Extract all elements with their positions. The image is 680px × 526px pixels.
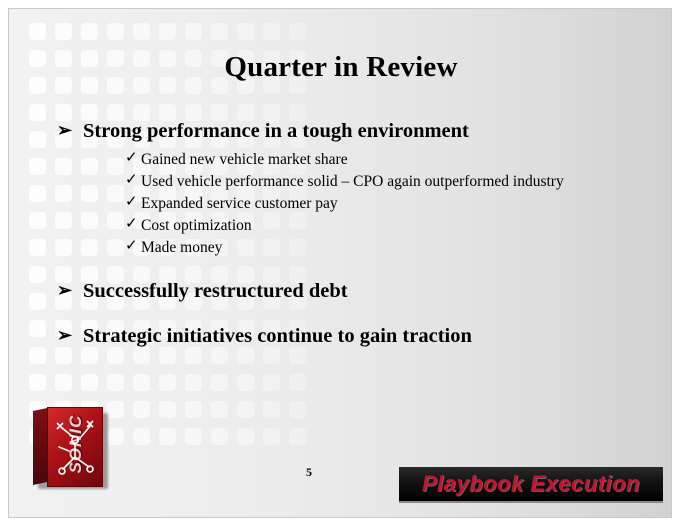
bullet-level2: ✓ Used vehicle performance solid – CPO a…: [57, 171, 657, 193]
slide-body: ➢ Strong performance in a tough environm…: [57, 119, 657, 354]
bullet-level1-text: Strong performance in a tough environmen…: [83, 120, 469, 142]
arrow-bullet-icon: ➢: [57, 119, 72, 142]
check-bullet-icon: ✓: [125, 236, 138, 257]
bullet-level1-text: Strategic initiatives continue to gain t…: [83, 325, 472, 347]
bullet-level1: ➢ Strong performance in a tough environm…: [57, 119, 657, 145]
arrow-bullet-icon: ➢: [57, 279, 72, 302]
bullet-level2: ✓ Gained new vehicle market share: [57, 149, 657, 171]
bullet-level2-text: Gained new vehicle market share: [141, 151, 348, 168]
bullet-level2-text: Used vehicle performance solid – CPO aga…: [141, 173, 564, 190]
footer-banner-text: Playbook Execution: [422, 471, 640, 497]
bullet-level2-text: Cost optimization: [141, 217, 252, 234]
playbook-diagram-icon: [51, 413, 101, 481]
bullet-level2-text: Made money: [141, 239, 222, 256]
slide-canvas: Quarter in Review ➢ Strong performance i…: [0, 0, 680, 526]
check-bullet-icon: ✓: [125, 192, 138, 213]
sub-bullet-list: ✓ Gained new vehicle market share ✓ Used…: [57, 149, 657, 259]
check-bullet-icon: ✓: [125, 214, 138, 235]
footer-banner: Playbook Execution: [399, 467, 663, 503]
bullet-level2: ✓ Expanded service customer pay: [57, 193, 657, 215]
bullet-level2-text: Expanded service customer pay: [141, 195, 338, 212]
bullet-level1: ➢ Successfully restructured debt: [57, 279, 657, 305]
arrow-bullet-icon: ➢: [57, 324, 72, 347]
sonic-logo: SONIC: [33, 407, 107, 487]
check-bullet-icon: ✓: [125, 170, 138, 191]
bullet-level1: ➢ Strategic initiatives continue to gain…: [57, 324, 657, 350]
check-bullet-icon: ✓: [125, 148, 138, 169]
bullet-level2: ✓ Cost optimization: [57, 215, 657, 237]
spacer: [57, 308, 657, 324]
bullet-level2: ✓ Made money: [57, 237, 657, 259]
spacer: [57, 259, 657, 279]
page-title: Quarter in Review: [9, 51, 672, 84]
bullet-level1-text: Successfully restructured debt: [83, 280, 348, 302]
slide-frame: Quarter in Review ➢ Strong performance i…: [8, 8, 672, 518]
